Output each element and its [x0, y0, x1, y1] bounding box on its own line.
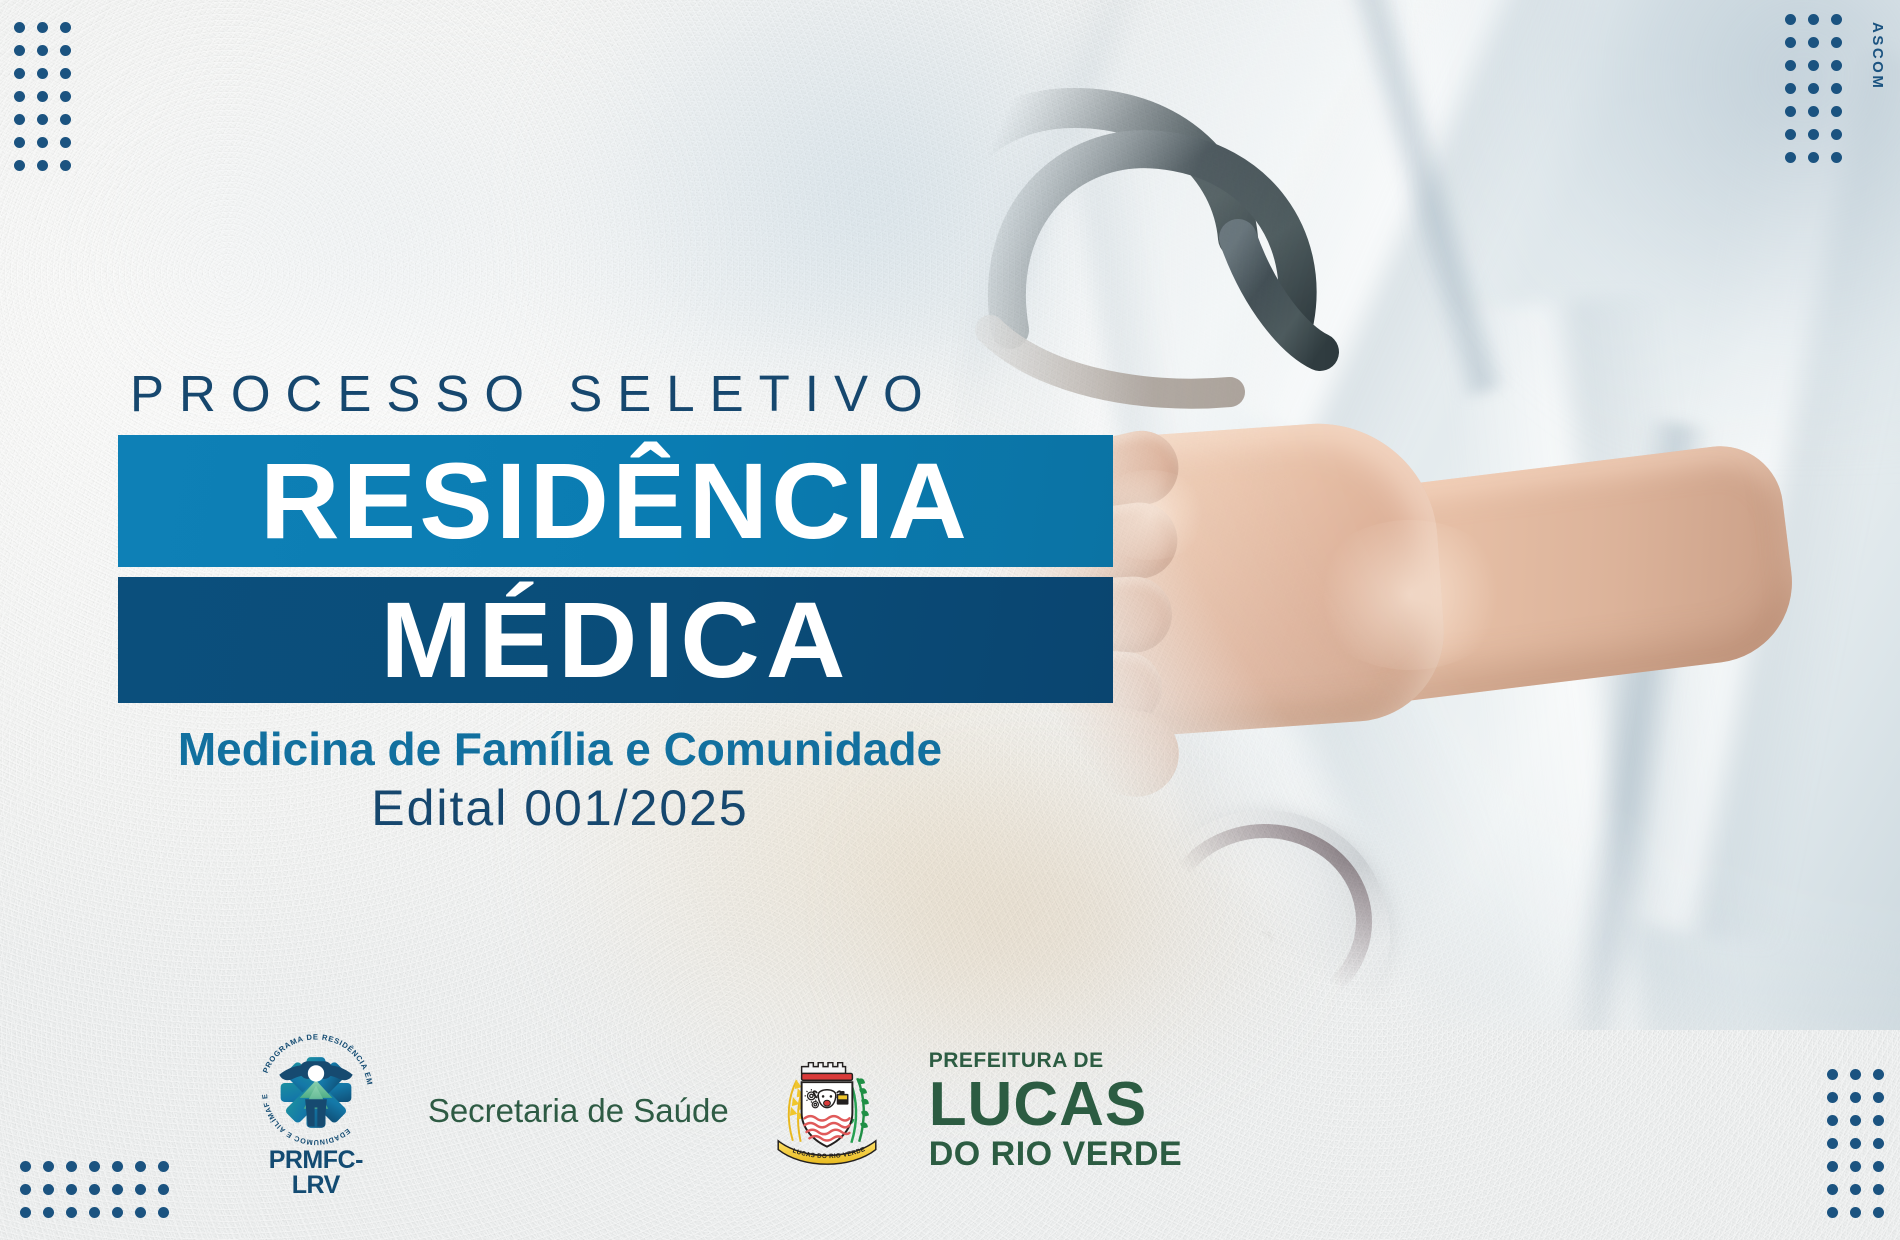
ascom-credit-label: ASCOM — [1869, 22, 1886, 90]
knuckle-highlight — [1310, 520, 1510, 670]
band-residencia-label: RESIDÊNCIA — [260, 447, 970, 555]
lucas-do-rio-verde-coat-of-arms-icon: LUCAS DO RIO VERDE — [773, 1050, 881, 1172]
prefeitura-lockup: PREFEITURA DE LUCAS DO RIO VERDE — [929, 1050, 1182, 1171]
secretaria-saude-label: Secretaria de Saúde — [428, 1092, 729, 1130]
prefeitura-line3: DO RIO VERDE — [929, 1137, 1182, 1171]
chestpiece-ring — [1158, 824, 1372, 1020]
prmfc-logo: PROGRAMA DE RESIDÊNCIA EM MEDICINA EDADI… — [248, 1023, 384, 1198]
dot-grid-bottom-right — [1827, 1069, 1884, 1218]
poster-canvas: ASCOM PROCESSO SELETIVO RESIDÊNCIA MÉDIC… — [0, 0, 1900, 1240]
band-residencia: RESIDÊNCIA — [118, 435, 1113, 567]
prmfc-emblem-icon: PROGRAMA DE RESIDÊNCIA EM MEDICINA EDADI… — [248, 1023, 384, 1147]
dot-grid-top-left — [14, 22, 71, 171]
band-medica-label: MÉDICA — [380, 586, 851, 694]
subtitle-specialty: Medicina de Família e Comunidade — [0, 725, 1120, 773]
prefeitura-line2: LUCAS — [929, 1074, 1182, 1136]
title-block: PROCESSO SELETIVO RESIDÊNCIA MÉDICA Medi… — [0, 368, 1120, 836]
prefeitura-line1: PREFEITURA DE — [929, 1050, 1182, 1071]
subtitle-edital: Edital 001/2025 — [0, 781, 1120, 836]
prmfc-acronym-label: PRMFC-LRV — [248, 1148, 384, 1198]
chestpiece-port — [1256, 931, 1274, 949]
footer-logo-row: PROGRAMA DE RESIDÊNCIA EM MEDICINA EDADI… — [0, 1023, 1430, 1198]
eyebrow-processo-seletivo: PROCESSO SELETIVO — [130, 368, 1120, 419]
chestpiece-diaphragm — [1174, 838, 1356, 1004]
band-medica: MÉDICA — [118, 577, 1113, 703]
dot-grid-top-right — [1785, 14, 1842, 163]
